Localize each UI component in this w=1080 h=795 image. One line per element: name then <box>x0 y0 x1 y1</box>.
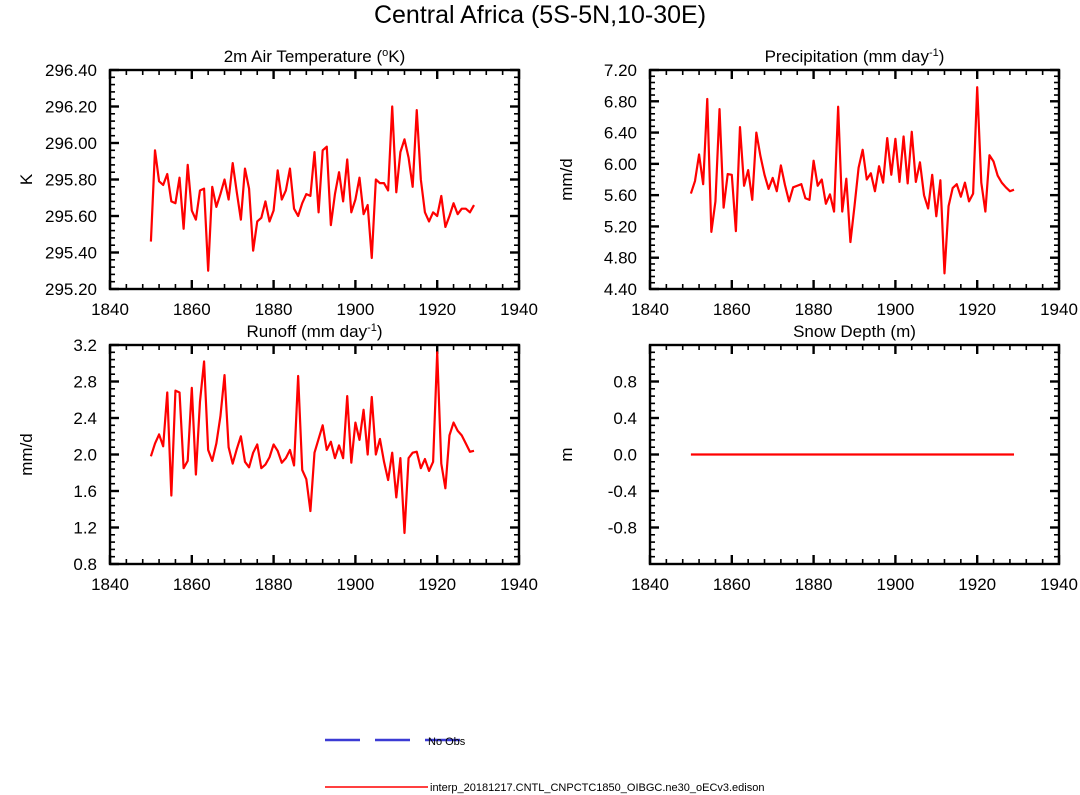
y-axis-label: K <box>17 173 36 185</box>
x-tick-label: 1840 <box>631 575 669 594</box>
plot-svg: 2m Air Temperature (oK)18401860188019001… <box>0 42 540 317</box>
y-tick-label: 0.4 <box>613 409 637 428</box>
y-axis-label: m <box>557 447 576 461</box>
plot-svg: Precipitation (mm day-1)1840186018801900… <box>540 42 1080 317</box>
y-tick-label: 5.60 <box>604 186 637 205</box>
y-tick-label: 2.4 <box>73 409 97 428</box>
y-tick-label: 295.60 <box>45 207 97 226</box>
panel-title: Snow Depth (m) <box>793 322 916 341</box>
y-tick-label: 6.40 <box>604 124 637 143</box>
panel-title: Runoff (mm day-1) <box>246 322 382 341</box>
y-tick-label: 295.20 <box>45 280 97 299</box>
x-tick-label: 1900 <box>336 575 374 594</box>
data-series-line <box>691 87 1014 273</box>
x-tick-label: 1940 <box>500 575 538 594</box>
y-axis-label: mm/d <box>17 433 36 476</box>
panel-title: 2m Air Temperature (oK) <box>224 47 406 66</box>
data-series-line <box>151 352 474 533</box>
y-tick-label: 1.2 <box>73 519 97 538</box>
panel-2m-air-temperature: 2m Air Temperature (oK)18401860188019001… <box>0 42 540 317</box>
y-axis-label: mm/d <box>557 158 576 201</box>
y-tick-label: 295.80 <box>45 171 97 190</box>
legend-label-no-obs: No Obs <box>428 736 466 748</box>
y-tick-label: -0.4 <box>608 482 637 501</box>
y-tick-label: -0.8 <box>608 519 637 538</box>
x-tick-label: 1880 <box>795 575 833 594</box>
y-tick-label: 0.0 <box>613 446 637 465</box>
x-tick-label: 1920 <box>958 575 996 594</box>
y-tick-label: 3.2 <box>73 336 97 355</box>
panel-runoff: Runoff (mm day-1)18401860188019001920194… <box>0 317 540 592</box>
x-tick-label: 1860 <box>173 575 211 594</box>
plot-svg: Snow Depth (m)184018601880190019201940-0… <box>540 317 1080 592</box>
x-tick-label: 1920 <box>418 575 456 594</box>
panel-precipitation: Precipitation (mm day-1)1840186018801900… <box>540 42 1080 317</box>
y-tick-label: 6.00 <box>604 155 637 174</box>
y-tick-label: 2.8 <box>73 373 97 392</box>
y-tick-label: 296.20 <box>45 98 97 117</box>
y-tick-label: 296.00 <box>45 134 97 153</box>
x-tick-label: 1880 <box>255 575 293 594</box>
y-tick-label: 4.80 <box>604 249 637 268</box>
panel-title: Precipitation (mm day-1) <box>765 47 945 66</box>
x-tick-label: 1840 <box>91 575 129 594</box>
y-tick-label: 2.0 <box>73 446 97 465</box>
y-tick-label: 6.80 <box>604 92 637 111</box>
y-tick-label: 295.40 <box>45 244 97 263</box>
y-tick-label: 7.20 <box>604 61 637 80</box>
y-tick-label: 4.40 <box>604 280 637 299</box>
data-series-line <box>151 107 474 271</box>
figure-root: Central Africa (5S-5N,10-30E) 2m Air Tem… <box>0 0 1080 795</box>
panel-snow-depth: Snow Depth (m)184018601880190019201940-0… <box>540 317 1080 592</box>
y-tick-label: 5.20 <box>604 217 637 236</box>
x-tick-label: 1860 <box>713 575 751 594</box>
figure-title: Central Africa (5S-5N,10-30E) <box>0 0 1080 30</box>
y-tick-label: 0.8 <box>73 555 97 574</box>
plot-svg: Runoff (mm day-1)18401860188019001920194… <box>0 317 540 592</box>
x-tick-label: 1940 <box>1040 575 1078 594</box>
y-tick-label: 1.6 <box>73 482 97 501</box>
x-tick-label: 1900 <box>876 575 914 594</box>
y-tick-label: 296.40 <box>45 61 97 80</box>
legend-label-model: interp_20181217.CNTL_CNPCTC1850_OIBGC.ne… <box>430 782 764 794</box>
y-tick-label: 0.8 <box>613 373 637 392</box>
